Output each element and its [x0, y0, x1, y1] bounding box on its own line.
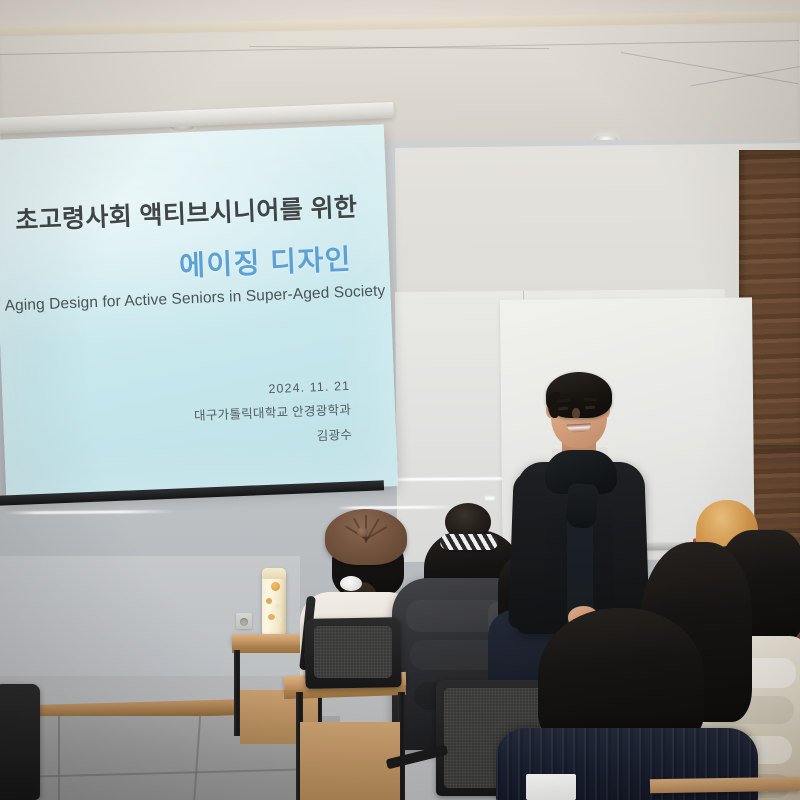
- lecture-room-photo: 초고령사회 액티브시니어를 위한 에이징 디자인 Aging Design fo…: [0, 0, 800, 800]
- paper-sheet[interactable]: [526, 774, 576, 800]
- front-desk-modesty-panel: [300, 722, 400, 800]
- presenter-scarf-tail: [566, 483, 599, 529]
- back-desk-edge: [650, 777, 800, 794]
- slide-title-korean: 초고령사회 액티브시니어를 위한: [14, 187, 357, 237]
- bottle-cap: [262, 568, 286, 579]
- beret-hat: [325, 509, 407, 565]
- slide-title-accent: 에이징 디자인: [178, 238, 352, 285]
- hair: [538, 608, 704, 748]
- beret-knob: [357, 527, 368, 537]
- water-bottle: [262, 568, 286, 636]
- projection-screen: 초고령사회 액티브시니어를 위한 에이징 디자인 Aging Design fo…: [0, 124, 398, 501]
- wall-outlet: [236, 613, 252, 629]
- lower-wall: [0, 556, 300, 676]
- slide-meta-block: 2024. 11. 21 대구가톨릭대학교 안경광학과 김광수: [193, 374, 353, 453]
- scrunchie: [440, 534, 498, 550]
- hair-tie: [340, 576, 362, 591]
- presenter-sleeve-left: [508, 471, 547, 628]
- presenter-nose: [572, 408, 580, 419]
- chair-back[interactable]: [0, 684, 40, 800]
- chair-mesh-panel: [314, 626, 392, 678]
- slide-subtitle-english: Aging Design for Active Seniors in Super…: [4, 282, 385, 315]
